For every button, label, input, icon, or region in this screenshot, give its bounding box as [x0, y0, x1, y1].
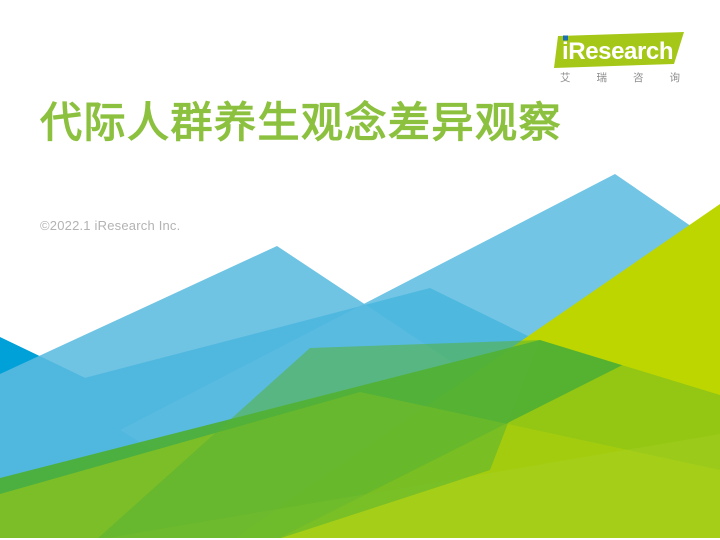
shape-green-mid-left — [0, 340, 720, 540]
shape-green-yellow-right — [232, 204, 720, 540]
shape-blue-light-right-peak — [120, 174, 720, 540]
shape-blue-solid-ridge — [0, 288, 720, 540]
shape-blue-light-left-peak — [0, 246, 720, 540]
shape-blue-solid-left — [0, 337, 277, 540]
shape-green-diagonal — [275, 316, 720, 540]
logo-subtitle-char-2: 瑞 — [597, 70, 608, 85]
logo-subtitle-char-4: 询 — [670, 70, 681, 85]
copyright-text: ©2022.1 iResearch Inc. — [40, 218, 180, 233]
shape-green-light-overlay — [96, 434, 720, 540]
page-title: 代际人群养生观念差异观察 — [40, 98, 562, 148]
slide-cover: 代际人群养生观念差异观察 ©2022.1 iResearch Inc. iRes… — [0, 0, 720, 540]
logo-subtitle-char-1: 艾 — [560, 70, 571, 85]
logo: iResearch 艾 瑞 咨 询 — [554, 30, 686, 86]
logo-subtitle: 艾 瑞 咨 询 — [560, 70, 680, 85]
shape-green-overlap-center — [96, 340, 540, 540]
logo-subtitle-char-3: 咨 — [633, 70, 644, 85]
logo-wordmark: iResearch — [562, 38, 673, 65]
shape-green-band-sweep — [0, 392, 720, 540]
